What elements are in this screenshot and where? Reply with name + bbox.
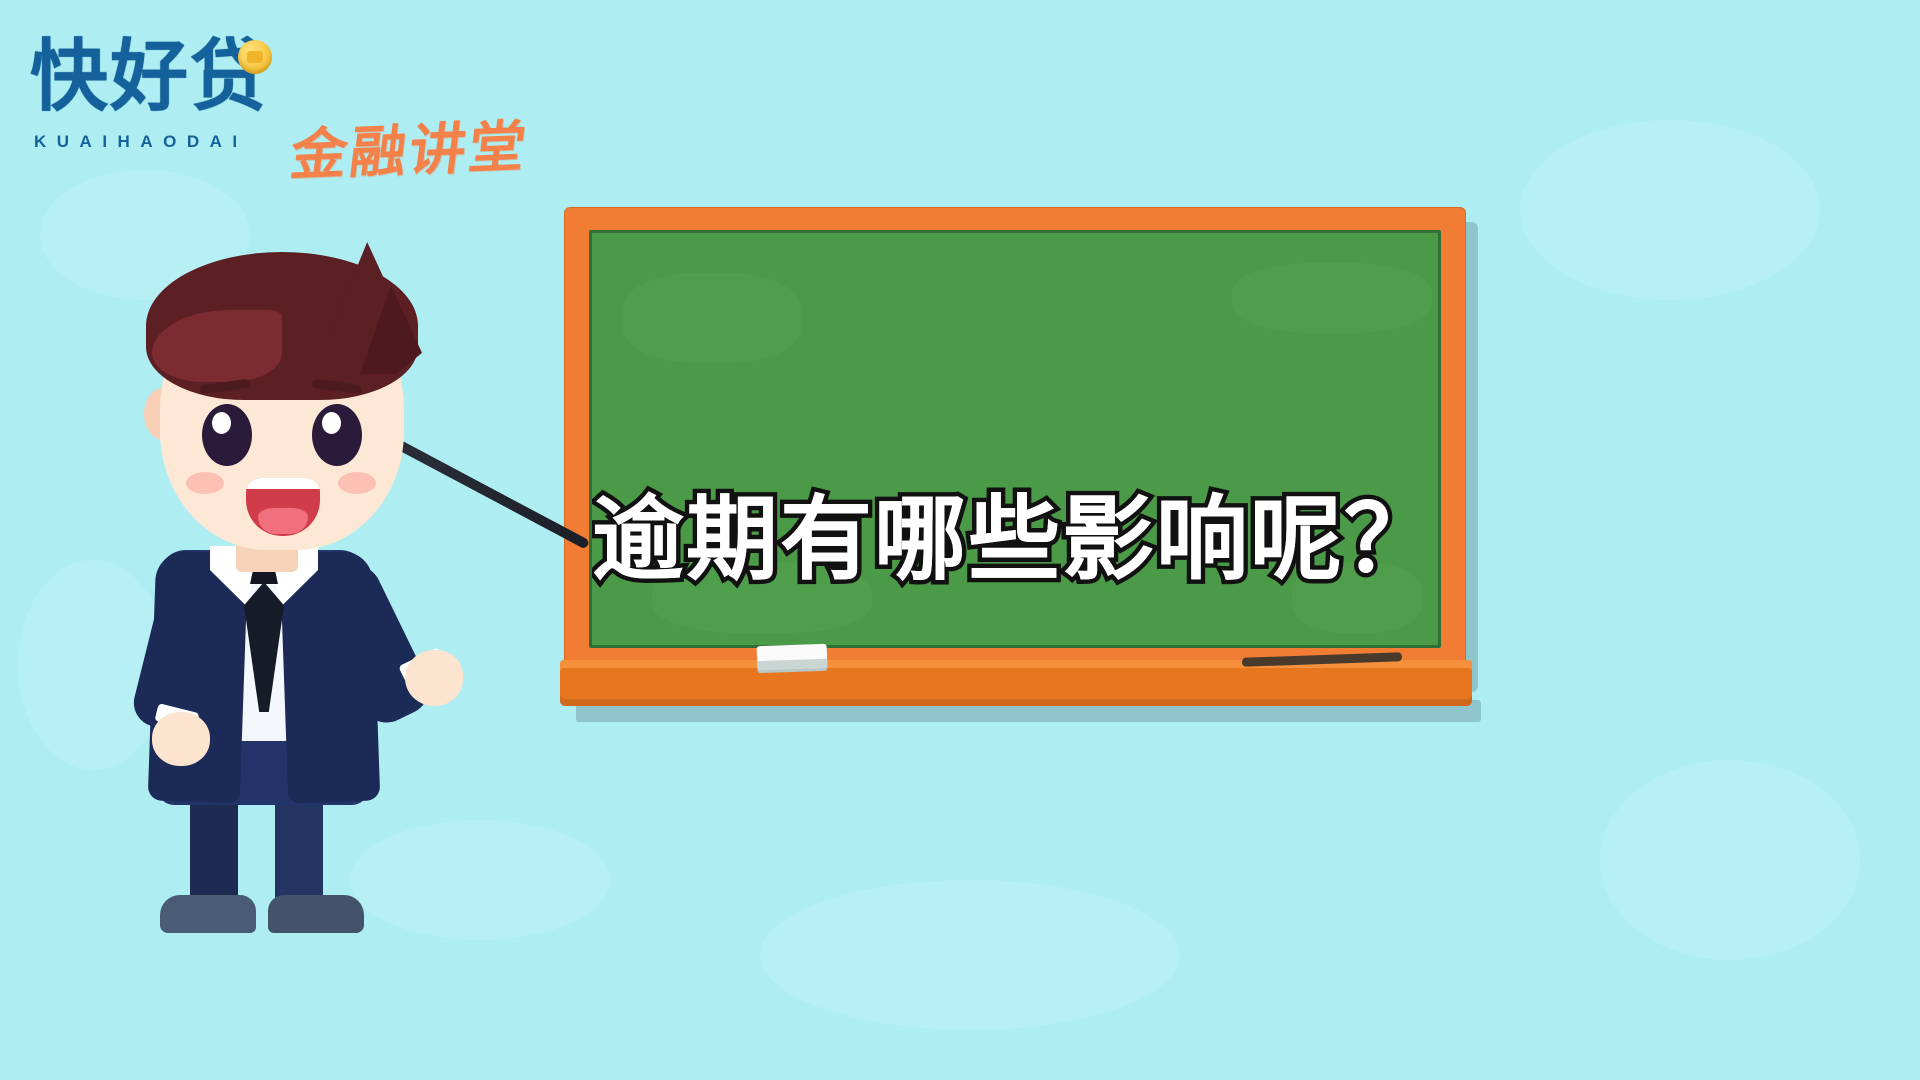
character-eye-highlight-left [212, 412, 231, 434]
character-hand-right [405, 650, 463, 706]
slide-canvas: 快好贷 KUAIHAODAI 金融讲堂 逾期有哪些影响呢？ 逾期有哪些影响呢？ [0, 0, 1920, 1080]
character-teeth [246, 478, 320, 489]
chalk-smudge [622, 273, 802, 363]
brand-logo: 快好贷 KUAIHAODAI 金融讲堂 [30, 38, 670, 163]
background-texture-blob [1600, 760, 1860, 960]
eraser-icon [757, 644, 828, 670]
character-tongue [258, 508, 308, 534]
character-cheek-right [338, 472, 376, 494]
character-shoe-right [268, 895, 364, 933]
background-texture-blob [350, 820, 610, 940]
chalk-tray [560, 668, 1472, 706]
chalk-smudge [1232, 263, 1432, 333]
blackboard-surface: 逾期有哪些影响呢？ 逾期有哪些影响呢？ [589, 230, 1441, 648]
background-texture-blob [1520, 120, 1820, 300]
brand-name-cn: 快好贷 [30, 38, 270, 116]
character-eye-highlight-right [322, 412, 341, 434]
blackboard-headline: 逾期有哪些影响呢？ [592, 465, 1438, 598]
character-hand-left [152, 712, 210, 766]
character-cheek-left [186, 472, 224, 494]
background-texture-blob [760, 880, 1180, 1030]
teacher-character [60, 160, 580, 820]
gold-coin-icon [238, 40, 272, 74]
character-shoe-left [160, 895, 256, 933]
brand-name-romanized: KUAIHAODAI [34, 132, 248, 152]
blackboard-frame: 逾期有哪些影响呢？ 逾期有哪些影响呢？ [565, 208, 1465, 670]
pointer-stick-icon [388, 436, 590, 550]
